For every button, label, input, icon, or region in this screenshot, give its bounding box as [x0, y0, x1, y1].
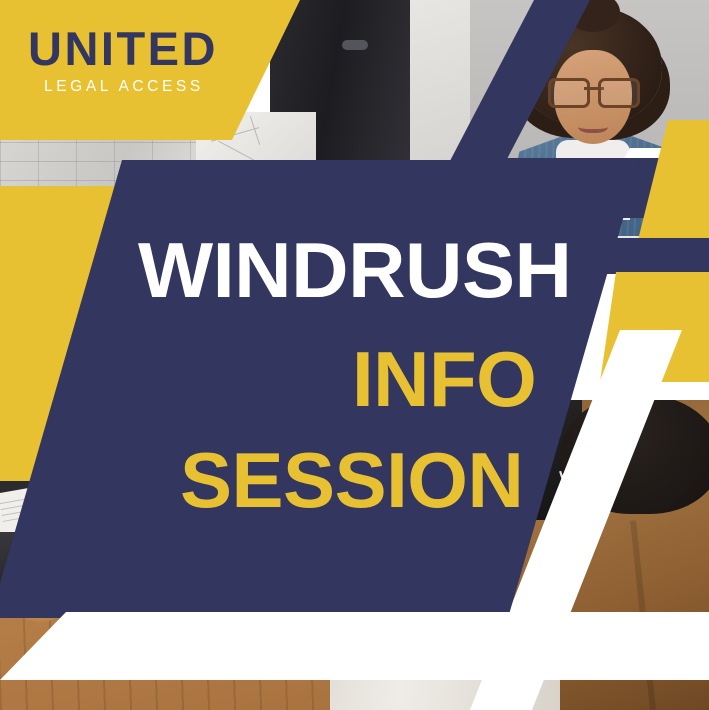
navy-right-band	[600, 238, 709, 274]
poster-canvas: UNITED LEGAL ACCESS WINDRUSH INFO SESSIO…	[0, 0, 709, 710]
logo-tagline: LEGAL ACCESS	[44, 77, 258, 97]
eyeglasses-icon	[548, 78, 640, 102]
white-bottom-band	[0, 612, 709, 680]
door-handle-icon	[342, 40, 368, 50]
logo-wordmark: UNITED	[28, 24, 258, 74]
logo: UNITED LEGAL ACCESS	[28, 24, 258, 97]
